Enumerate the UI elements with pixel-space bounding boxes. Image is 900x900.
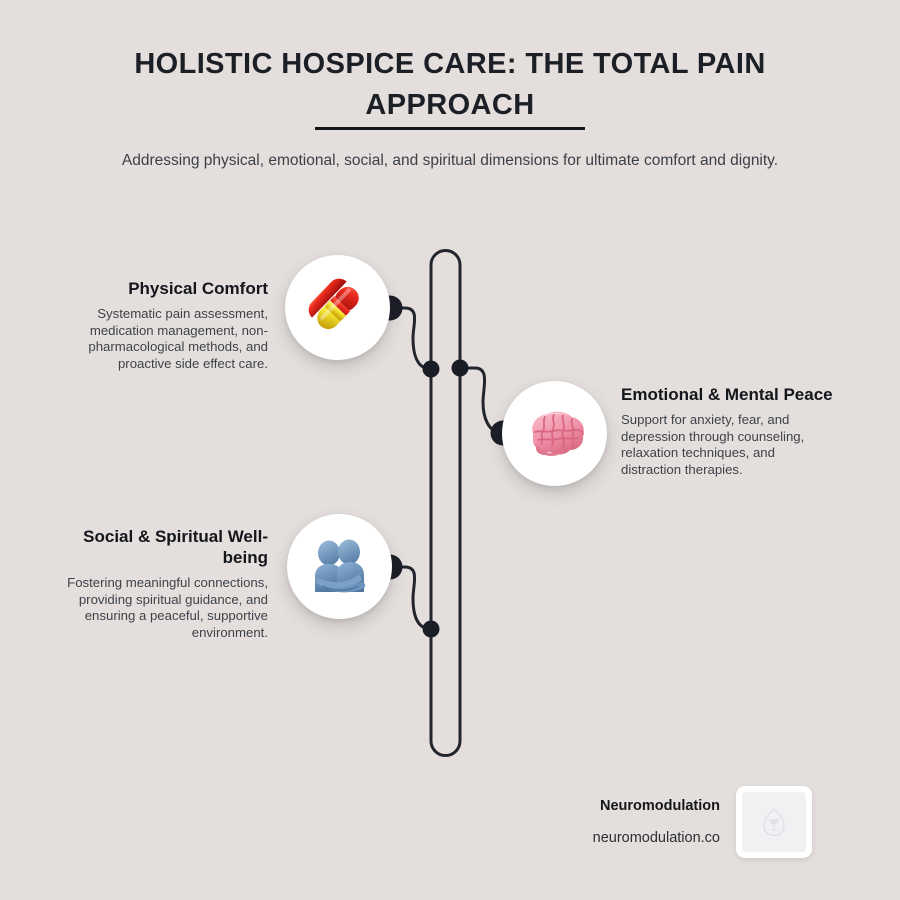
spine-bottom-loop xyxy=(431,369,460,756)
pill-capsule-icon xyxy=(302,272,374,344)
infographic-canvas: HOLISTIC HOSPICE CARE: THE TOTAL PAIN AP… xyxy=(0,0,900,900)
node-small-2 xyxy=(452,360,469,377)
section-block-emotional-peace: Emotional & Mental Peace Support for anx… xyxy=(621,384,833,478)
section-body: Support for anxiety, fear, and depressio… xyxy=(621,412,833,478)
spine-top-loop xyxy=(431,251,460,370)
title-underline-divider xyxy=(315,127,585,130)
branch-connector-3 xyxy=(390,567,431,629)
section-heading: Emotional & Mental Peace xyxy=(621,384,833,405)
page-title: HOLISTIC HOSPICE CARE: THE TOTAL PAIN AP… xyxy=(120,44,780,126)
branch-connector-2 xyxy=(460,368,503,433)
section-block-social-spiritual: Social & Spiritual Well-being Fostering … xyxy=(57,526,268,641)
section-block-physical-comfort: Physical Comfort Systematic pain assessm… xyxy=(57,278,268,372)
node-small-1 xyxy=(423,361,440,378)
brain-icon xyxy=(520,404,590,464)
footer-website-url[interactable]: neuromodulation.co xyxy=(480,830,720,846)
node-small-3 xyxy=(423,621,440,638)
page-subtitle: Addressing physical, emotional, social, … xyxy=(85,148,815,173)
footer-brand-name: Neuromodulation xyxy=(480,798,720,814)
people-hug-icon xyxy=(307,536,373,598)
footer-logo-card xyxy=(736,786,812,858)
icon-card-social-spiritual[interactable] xyxy=(287,514,392,619)
section-body: Fostering meaningful connections, provid… xyxy=(57,575,268,641)
section-body: Systematic pain assessment, medication m… xyxy=(57,306,268,372)
section-heading: Social & Spiritual Well-being xyxy=(57,526,268,568)
shield-lamp-logo-icon xyxy=(742,792,806,852)
icon-card-physical-comfort[interactable] xyxy=(285,255,390,360)
branch-connector-1 xyxy=(390,308,431,369)
section-heading: Physical Comfort xyxy=(57,278,268,299)
icon-card-emotional-peace[interactable] xyxy=(502,381,607,486)
